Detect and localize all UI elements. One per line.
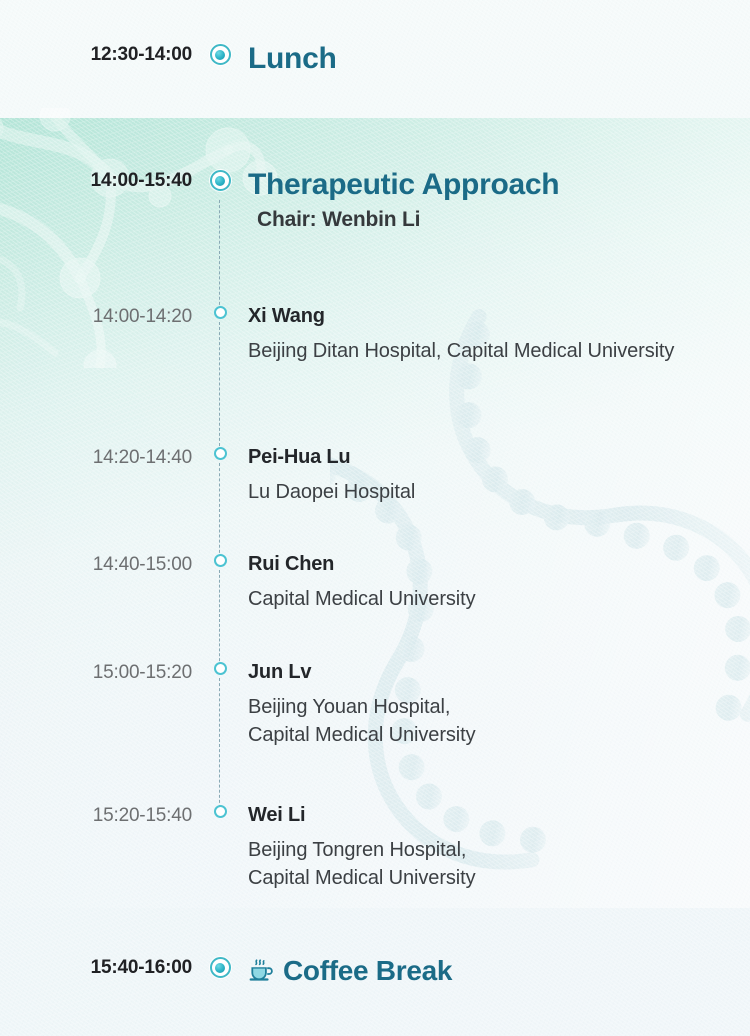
talk-time: 14:40-15:00 xyxy=(0,554,192,576)
marker-column xyxy=(192,306,248,319)
agenda-row-talk[interactable]: 15:00-15:20 Jun Lv Beijing Youan Hospita… xyxy=(0,662,750,750)
agenda-row-lunch[interactable]: 12:30-14:00 Lunch xyxy=(0,44,750,74)
talk-content: Jun Lv Beijing Youan Hospital, Capital M… xyxy=(248,662,750,750)
speaker-name: Wei Li xyxy=(248,805,750,825)
talk-time: 14:20-14:40 xyxy=(0,447,192,469)
timeline-minor-dot-icon xyxy=(214,662,227,675)
timeline-minor-dot-icon xyxy=(214,306,227,319)
speaker-name: Rui Chen xyxy=(248,554,750,574)
talk-time: 15:20-15:40 xyxy=(0,805,192,827)
speaker-affiliation: Capital Medical University xyxy=(248,585,698,613)
speaker-affiliation: Beijing Tongren Hospital, Capital Medica… xyxy=(248,836,698,893)
coffee-break-title-row: Coffee Break xyxy=(248,957,750,985)
schedule-page: 12:30-14:00 Lunch 14:00-15:40 Therapeuti… xyxy=(0,0,750,1036)
marker-column xyxy=(192,957,248,978)
timeline-major-dot-icon xyxy=(210,44,231,65)
coffee-break-time: 15:40-16:00 xyxy=(0,957,192,979)
speaker-name: Pei-Hua Lu xyxy=(248,447,750,467)
talk-content: Wei Li Beijing Tongren Hospital, Capital… xyxy=(248,805,750,893)
timeline-major-dot-icon xyxy=(210,170,231,191)
marker-column xyxy=(192,447,248,460)
coffee-cup-icon xyxy=(248,959,274,983)
timeline-major-dot-icon xyxy=(210,957,231,978)
agenda-row-coffee-break[interactable]: 15:40-16:00 xyxy=(0,957,750,985)
agenda-row-talk[interactable]: 14:00-14:20 Xi Wang Beijing Ditan Hospit… xyxy=(0,306,750,365)
timeline-minor-dot-icon xyxy=(214,554,227,567)
agenda-row-talk[interactable]: 14:40-15:00 Rui Chen Capital Medical Uni… xyxy=(0,554,750,613)
session-content: Therapeutic Approach Chair: Wenbin Li xyxy=(248,170,750,230)
coffee-break-content: Coffee Break xyxy=(248,957,750,985)
lunch-title: Lunch xyxy=(248,44,750,74)
speaker-affiliation: Beijing Ditan Hospital, Capital Medical … xyxy=(248,337,698,365)
marker-column xyxy=(192,44,248,65)
talk-content: Xi Wang Beijing Ditan Hospital, Capital … xyxy=(248,306,750,365)
session-title: Therapeutic Approach xyxy=(248,170,750,200)
session-time: 14:00-15:40 xyxy=(0,170,192,192)
talk-content: Pei-Hua Lu Lu Daopei Hospital xyxy=(248,447,750,506)
lunch-time: 12:30-14:00 xyxy=(0,44,192,66)
coffee-break-title: Coffee Break xyxy=(283,957,452,985)
session-chair: Chair: Wenbin Li xyxy=(257,209,750,230)
lunch-content: Lunch xyxy=(248,44,750,74)
marker-column xyxy=(192,554,248,567)
speaker-name: Xi Wang xyxy=(248,306,750,326)
speaker-affiliation: Lu Daopei Hospital xyxy=(248,478,698,506)
speaker-affiliation: Beijing Youan Hospital, Capital Medical … xyxy=(248,693,698,750)
talk-time: 14:00-14:20 xyxy=(0,306,192,328)
talk-time: 15:00-15:20 xyxy=(0,662,192,684)
speaker-name: Jun Lv xyxy=(248,662,750,682)
timeline-rows: 12:30-14:00 Lunch 14:00-15:40 Therapeuti… xyxy=(0,0,750,1036)
talk-content: Rui Chen Capital Medical University xyxy=(248,554,750,613)
timeline-minor-dot-icon xyxy=(214,447,227,460)
marker-column xyxy=(192,662,248,675)
agenda-row-talk[interactable]: 15:20-15:40 Wei Li Beijing Tongren Hospi… xyxy=(0,805,750,893)
agenda-row-talk[interactable]: 14:20-14:40 Pei-Hua Lu Lu Daopei Hospita… xyxy=(0,447,750,506)
timeline-minor-dot-icon xyxy=(214,805,227,818)
marker-column xyxy=(192,170,248,191)
agenda-row-session-header[interactable]: 14:00-15:40 Therapeutic Approach Chair: … xyxy=(0,170,750,230)
marker-column xyxy=(192,805,248,818)
